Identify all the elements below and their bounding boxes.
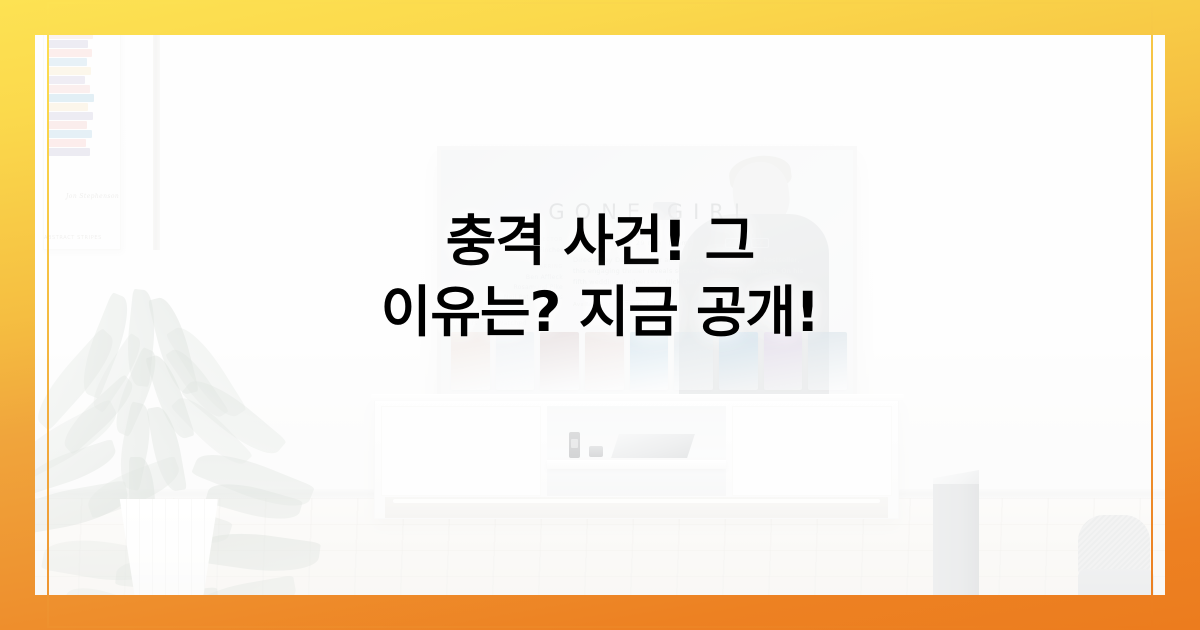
tv-runtime: 2 hr 29 min [618, 239, 661, 247]
tv-poster-thumbnail[interactable] [808, 332, 847, 390]
tv-poster-thumbnail[interactable] [585, 332, 624, 390]
director-name: David Fincher [451, 246, 563, 256]
tv-stand [374, 399, 899, 519]
tv-available-on: Available On iTunes HBO [573, 300, 677, 310]
wall-art-stripe [47, 103, 88, 111]
remote-control[interactable] [569, 432, 580, 458]
available-on-itunes[interactable]: iTunes [618, 300, 648, 310]
director-label: DIRECTOR [451, 236, 563, 246]
wall-art-stripe [47, 148, 90, 156]
tv-poster-thumbnail[interactable] [451, 332, 490, 390]
tv-badge-cc: CC [751, 238, 769, 248]
wall-art-stripe [47, 35, 93, 39]
tv-stand-left-cabinet[interactable] [381, 406, 541, 496]
wall-art-caption: ABSTRACT STRIPES [44, 235, 102, 241]
photo-window: Jon Stephenson ABSTRACT STRIPES GONE GIR… [35, 35, 1165, 595]
wall-art-stripe [47, 130, 92, 138]
available-on-label: Available On [573, 302, 612, 308]
television[interactable]: GONE GIRL 88% 57+ 2 hr 29 min Drama 2014… [437, 146, 857, 405]
wall-art-stripe [47, 67, 91, 75]
wall-art-stripe [47, 139, 86, 147]
tv-poster-thumbnail[interactable] [764, 332, 803, 390]
speaker-body [933, 484, 979, 595]
wall-art-stripes [47, 35, 108, 185]
wall-art-stripe [47, 40, 88, 48]
tv-meta-row: 88% 57+ 2 hr 29 min Drama 2014 HD CC [573, 238, 769, 248]
wall-art-stripe [47, 121, 87, 129]
shelf-divider [547, 460, 726, 469]
starring-label: STARRING [451, 263, 563, 273]
tv-poster-row[interactable] [451, 332, 847, 390]
tv-stand-top [371, 394, 904, 401]
floor-speaker [933, 470, 979, 595]
tv-poster-thumbnail[interactable] [719, 332, 758, 390]
tv-poster-thumbnail[interactable] [630, 332, 669, 390]
audience-score: 57+ [596, 239, 611, 247]
room-background: Jon Stephenson ABSTRACT STRIPES GONE GIR… [35, 35, 1165, 595]
tv-genre: Drama [668, 239, 692, 247]
wall-art-stripe [47, 112, 93, 120]
tv-row-label: Viewers Also Watched [451, 320, 527, 327]
wall-art-stripe [47, 76, 85, 84]
wall-art-signature: Jon Stephenson [66, 193, 119, 200]
wall-art-stripe [47, 85, 90, 93]
tv-poster-thumbnail[interactable] [540, 332, 579, 390]
set-top-box [589, 446, 603, 457]
wall-art-stripe [47, 58, 87, 66]
starring-names: Ben Affleck Rosamund Pike Neil Patrick H… [451, 273, 563, 303]
tv-credits: DIRECTOR David Fincher STARRING Ben Affl… [451, 236, 563, 303]
tv-stand-right-cabinet[interactable] [732, 406, 892, 496]
tv-studio-logo-icon [653, 202, 677, 220]
potted-plant [35, 271, 311, 595]
tv-stand-open-shelf [547, 406, 726, 496]
tv-synopsis-more-link[interactable]: MORE [706, 278, 726, 286]
tv-movie-title: GONE GIRL [441, 200, 853, 224]
tomatometer-score: 88% [573, 239, 589, 247]
tv-synopsis: Directed by David Fincher and based on G… [573, 255, 805, 288]
tv-stand-plinth [385, 497, 888, 518]
tv-synopsis-text: Directed by David Fincher and based on G… [573, 256, 803, 286]
thumbnail-card: Jon Stephenson ABSTRACT STRIPES GONE GIR… [0, 0, 1200, 630]
tv-year: 2014 [700, 239, 719, 247]
tv-poster-thumbnail[interactable] [496, 332, 535, 390]
wicker-basket-body [1078, 569, 1154, 595]
tv-screen[interactable]: GONE GIRL 88% 57+ 2 hr 29 min Drama 2014… [441, 150, 853, 401]
wall-seam [153, 35, 160, 250]
wall-art-stripe [47, 94, 94, 102]
media-player-device [611, 434, 695, 458]
tv-badge-hd: HD [725, 238, 744, 248]
wall-art-stripe [47, 49, 92, 57]
wall-art-frame: Jon Stephenson ABSTRACT STRIPES [43, 35, 121, 250]
available-on-hbo[interactable]: HBO [654, 300, 677, 310]
tv-poster-thumbnail[interactable] [674, 332, 713, 390]
